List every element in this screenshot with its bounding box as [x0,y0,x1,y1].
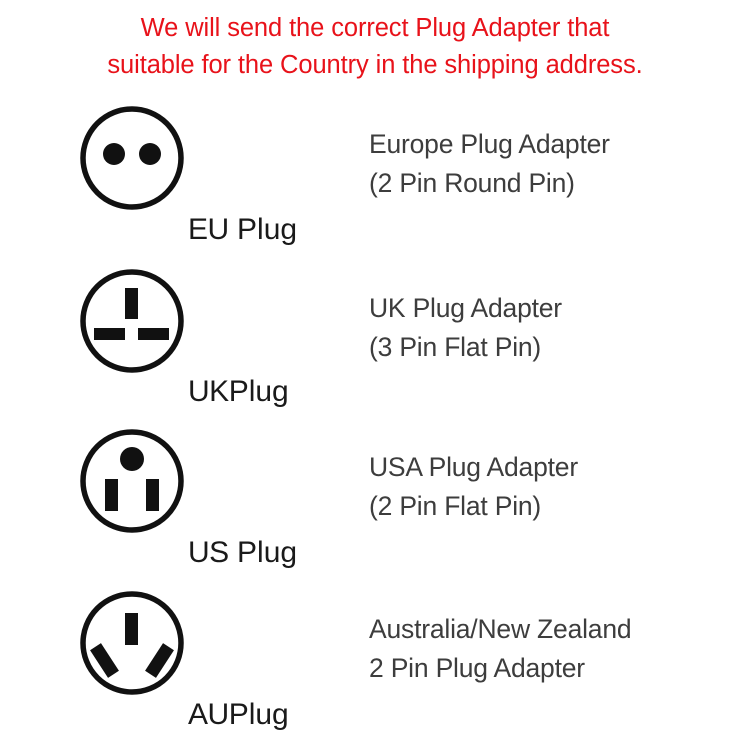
plug-description-us-line-2: (2 Pin Flat Pin) [369,487,750,526]
plug-description-eu-line-2: (2 Pin Round Pin) [369,164,750,203]
plug-row-au: AUPlug Australia/New Zealand 2 Pin Plug … [0,585,750,750]
plug-caption-word-uk: Plug [229,375,289,408]
plug-description-uk-line-1: UK Plug Adapter [369,289,750,328]
plug-description-au-line-1: Australia/New Zealand [369,610,750,649]
uk-plug-socket-icon [78,267,186,375]
us-plug-socket-icon [78,427,186,535]
plug-row-us: US Plug USA Plug Adapter (2 Pin Flat Pin… [0,423,750,585]
promo-header: We will send the correct Plug Adapter th… [0,10,750,84]
plug-description-us: USA Plug Adapter (2 Pin Flat Pin) [369,448,750,526]
plug-description-au: Australia/New Zealand 2 Pin Plug Adapter [369,610,750,688]
plug-row-uk: UKPlug UK Plug Adapter (3 Pin Flat Pin) [0,263,750,423]
plug-caption-word-us: Plug [237,536,297,569]
plug-caption-au: AUPlug [188,698,368,732]
plug-caption-uk: UKPlug [188,375,368,409]
plug-description-uk-line-2: (3 Pin Flat Pin) [369,328,750,367]
plug-caption-abbr-uk: UK [188,375,229,408]
plug-caption-us: US Plug [188,536,368,570]
plug-description-eu: Europe Plug Adapter (2 Pin Round Pin) [369,125,750,203]
plug-description-au-line-2: 2 Pin Plug Adapter [369,649,750,688]
plug-caption-word-eu: Plug [237,213,297,246]
au-plug-socket-icon [78,589,186,697]
promo-header-line-2: suitable for the Country in the shipping… [0,47,750,84]
plug-description-uk: UK Plug Adapter (3 Pin Flat Pin) [369,289,750,367]
plug-caption-eu: EU Plug [188,213,368,247]
plug-caption-abbr-us: US [188,536,229,569]
eu-plug-socket-icon [78,104,186,212]
promo-header-line-1: We will send the correct Plug Adapter th… [0,10,750,47]
plug-row-eu: EU Plug Europe Plug Adapter (2 Pin Round… [0,100,750,262]
plug-description-us-line-1: USA Plug Adapter [369,448,750,487]
plug-description-eu-line-1: Europe Plug Adapter [369,125,750,164]
plug-caption-abbr-eu: EU [188,213,229,246]
plug-caption-abbr-au: AU [188,698,229,731]
plug-caption-word-au: Plug [229,698,289,731]
